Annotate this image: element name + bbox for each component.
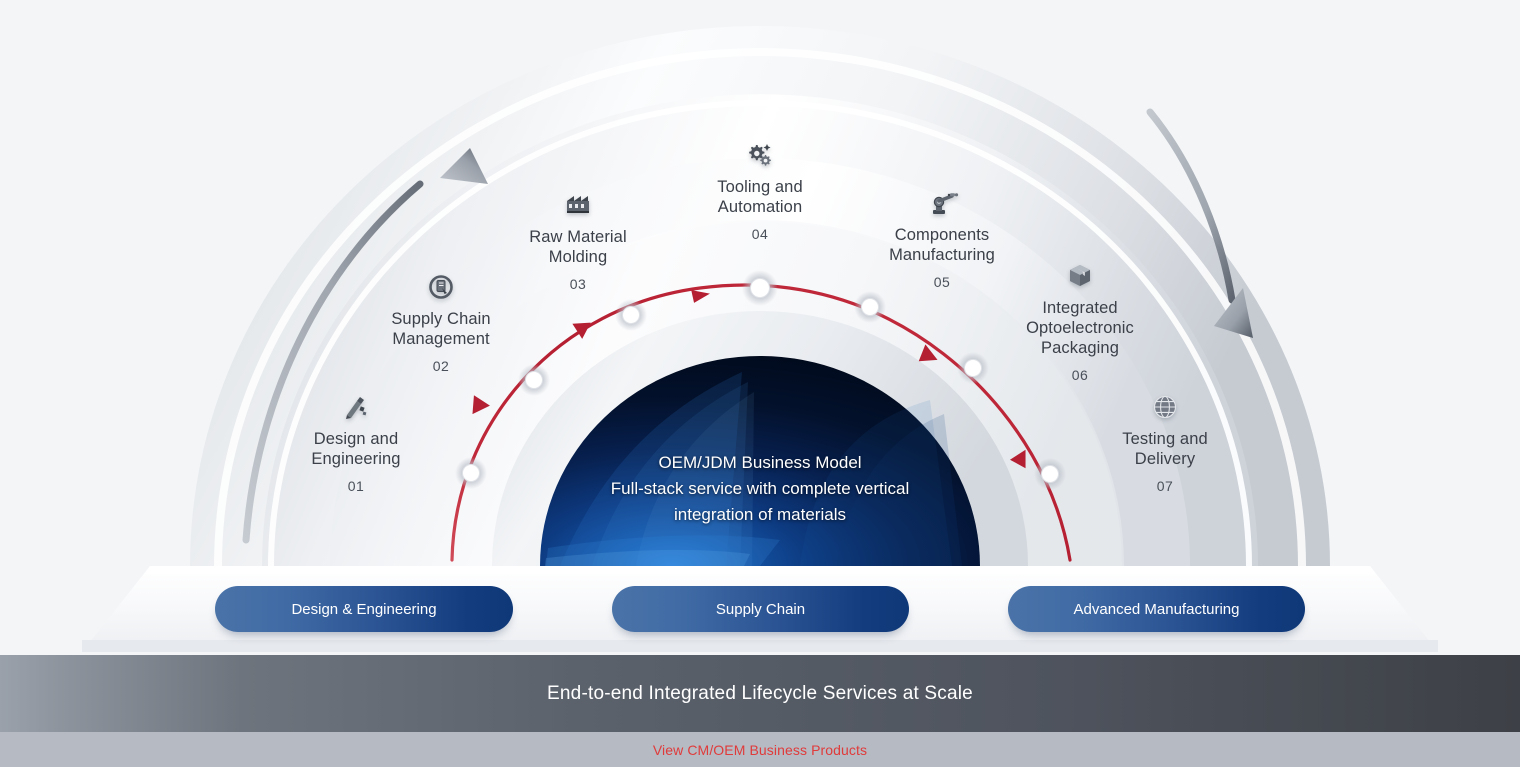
factory-icon [483,192,673,222]
node-label-line1: Supply Chain [391,310,490,328]
drafting-tools-icon [261,394,451,424]
node-label-line2: Molding [549,248,607,266]
node-label-line1: Raw Material [529,228,626,246]
node-label-line3: Packaging [1041,339,1119,357]
footer-banner: End-to-end Integrated Lifecycle Services… [0,655,1520,732]
gears-icon [665,142,855,172]
category-button-advanced-manufacturing[interactable]: Advanced Manufacturing [1008,586,1305,632]
node-label-line1: Integrated [1042,299,1117,317]
process-node-06[interactable]: Integrated Optoelectronic Packaging 06 [985,263,1175,383]
category-button-label: Supply Chain [716,601,805,618]
arc-node [1034,458,1066,490]
category-button-label: Advanced Manufacturing [1074,601,1240,618]
arc-rings-graphic [0,0,1520,767]
node-label-line1: Design and [314,430,398,448]
robot-arm-icon [847,190,1037,220]
node-label-line1: Components [895,226,990,244]
node-label-line1: Testing and [1122,430,1208,448]
node-number: 03 [483,276,673,293]
package-box-icon [985,263,1175,293]
infographic-stage: Design and Engineering 01 Supply Chain M… [0,0,1520,767]
node-label-line1: Tooling and [717,178,803,196]
node-label-line2: Engineering [311,450,400,468]
node-label-line2: Optoelectronic [1026,319,1134,337]
globe-icon [1070,394,1260,424]
node-number: 06 [985,367,1175,384]
category-button-design-engineering[interactable]: Design & Engineering [215,586,513,632]
category-button-supply-chain[interactable]: Supply Chain [612,586,909,632]
center-subtitle-line2: integration of materials [560,502,960,528]
node-number: 07 [1070,478,1260,495]
arc-node [615,299,647,331]
footer-title: End-to-end Integrated Lifecycle Services… [547,683,973,705]
node-number: 04 [665,226,855,243]
arc-node [854,291,886,323]
arc-node [742,270,778,306]
process-node-01[interactable]: Design and Engineering 01 [261,394,451,494]
process-node-04[interactable]: Tooling and Automation 04 [665,142,855,242]
view-products-link[interactable]: View CM/OEM Business Products [653,742,867,758]
center-caption: OEM/JDM Business Model Full-stack servic… [560,450,960,527]
center-title: OEM/JDM Business Model [560,450,960,476]
footer-link-strip: View CM/OEM Business Products [0,732,1520,767]
process-node-03[interactable]: Raw Material Molding 03 [483,192,673,292]
node-label-line2: Automation [718,198,802,216]
node-number: 02 [346,358,536,375]
center-subtitle-line1: Full-stack service with complete vertica… [560,476,960,502]
node-number: 01 [261,478,451,495]
process-node-07[interactable]: Testing and Delivery 07 [1070,394,1260,494]
arc-node [455,457,487,489]
node-label-line2: Management [392,330,489,348]
node-label-line2: Manufacturing [889,246,995,264]
category-button-label: Design & Engineering [291,601,436,618]
node-label-line2: Delivery [1135,450,1195,468]
